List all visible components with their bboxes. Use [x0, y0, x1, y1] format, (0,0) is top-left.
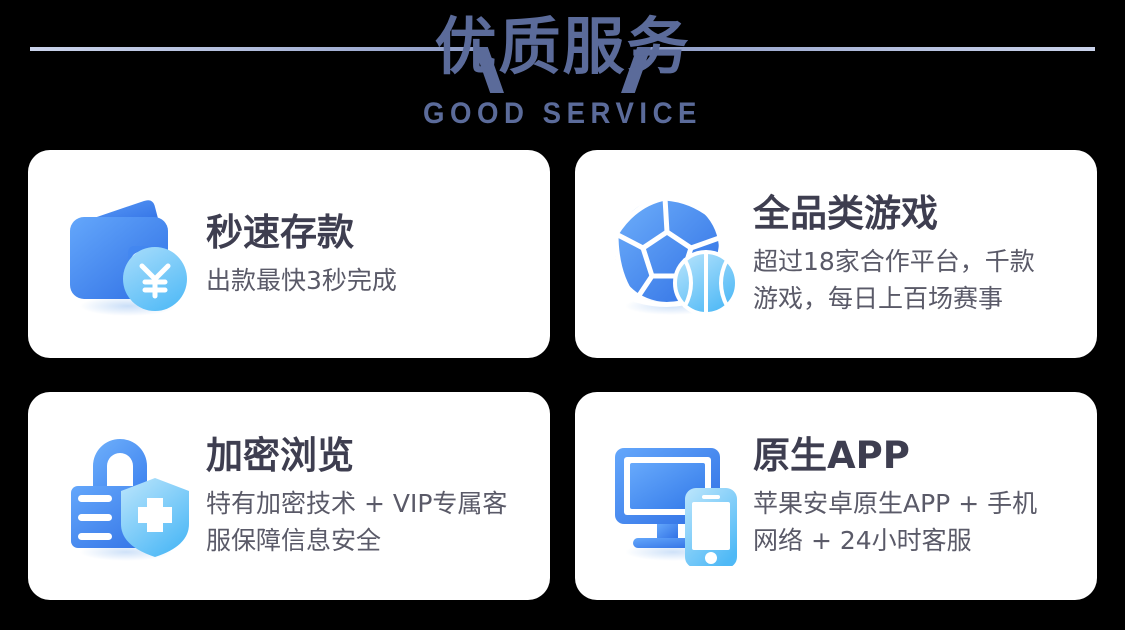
card-subtitle-line: 苹果安卓原生APP + 手机 [753, 485, 1083, 522]
wallet-yen-icon [58, 184, 198, 324]
card-title: 秒速存款 [206, 210, 536, 256]
card-subtitle-line: 网络 + 24小时客服 [753, 522, 1083, 559]
card-subtitle-line: 超过18家合作平台，千款 [753, 243, 1083, 280]
card-text-block: 全品类游戏 超过18家合作平台，千款 游戏，每日上百场赛事 [745, 191, 1083, 317]
card-title: 原生APP [753, 433, 1083, 479]
card-subtitle-line: 服保障信息安全 [206, 522, 536, 559]
card-subtitle: 特有加密技术 + VIP专属客 服保障信息安全 [206, 485, 536, 559]
soccer-basketball-icon [605, 184, 745, 324]
lock-shield-icon [58, 426, 198, 566]
monitor-phone-icon [605, 426, 745, 566]
feature-card-grid: 秒速存款 出款最快3秒完成 [28, 150, 1097, 600]
feature-card-games[interactable]: 全品类游戏 超过18家合作平台，千款 游戏，每日上百场赛事 [575, 150, 1097, 358]
card-subtitle-line: 特有加密技术 + VIP专属客 [206, 485, 536, 522]
card-subtitle: 苹果安卓原生APP + 手机 网络 + 24小时客服 [753, 485, 1083, 559]
page-title: 优质服务 [0, 8, 1125, 86]
card-title: 加密浏览 [206, 433, 536, 479]
feature-card-native-app[interactable]: 原生APP 苹果安卓原生APP + 手机 网络 + 24小时客服 [575, 392, 1097, 600]
card-text-block: 加密浏览 特有加密技术 + VIP专属客 服保障信息安全 [198, 433, 536, 559]
section-header: 优质服务 GOOD SERVICE [0, 0, 1125, 142]
card-title: 全品类游戏 [753, 191, 1083, 237]
card-subtitle: 出款最快3秒完成 [206, 262, 536, 299]
page-subtitle: GOOD SERVICE [45, 96, 1080, 132]
feature-card-encryption[interactable]: 加密浏览 特有加密技术 + VIP专属客 服保障信息安全 [28, 392, 550, 600]
card-subtitle-line: 出款最快3秒完成 [206, 262, 536, 299]
card-subtitle-line: 游戏，每日上百场赛事 [753, 280, 1083, 317]
feature-card-deposit[interactable]: 秒速存款 出款最快3秒完成 [28, 150, 550, 358]
card-subtitle: 超过18家合作平台，千款 游戏，每日上百场赛事 [753, 243, 1083, 317]
card-text-block: 原生APP 苹果安卓原生APP + 手机 网络 + 24小时客服 [745, 433, 1083, 559]
card-text-block: 秒速存款 出款最快3秒完成 [198, 210, 536, 299]
